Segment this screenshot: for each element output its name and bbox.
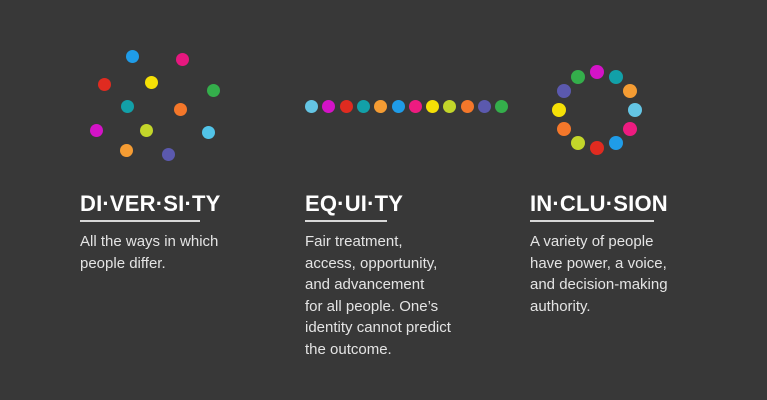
scattered-dot-cluster-graphic bbox=[80, 40, 270, 185]
cluster-dot-0 bbox=[126, 50, 139, 63]
cluster-dot-7 bbox=[90, 124, 103, 137]
row-dot-2 bbox=[340, 100, 353, 113]
ring-dot-7 bbox=[571, 136, 585, 150]
row-dot-11 bbox=[495, 100, 508, 113]
row-dot-9 bbox=[461, 100, 474, 113]
heading-wrap-diversity: DI·VER·SI·TY bbox=[80, 192, 221, 222]
row-dot-4 bbox=[374, 100, 387, 113]
ring-dot-1 bbox=[609, 70, 623, 84]
row-dot-10 bbox=[478, 100, 491, 113]
body-text-inclusion: A variety of people have power, a voice,… bbox=[530, 231, 705, 317]
ring-dot-11 bbox=[571, 70, 585, 84]
row-dot-3 bbox=[357, 100, 370, 113]
ring-dot-6 bbox=[590, 141, 604, 155]
column-inclusion: IN·CLU·SION A variety of people have pow… bbox=[530, 0, 725, 400]
ring-dot-9 bbox=[552, 103, 566, 117]
ring-dot-8 bbox=[557, 122, 571, 136]
ring-dot-4 bbox=[623, 122, 637, 136]
heading-wrap-equity: EQ·UI·TY bbox=[305, 192, 403, 222]
cluster-dot-4 bbox=[207, 84, 220, 97]
ring-dot-10 bbox=[557, 84, 571, 98]
page-title-equity: EQ·UI·TY bbox=[305, 192, 403, 216]
row-dot-0 bbox=[305, 100, 318, 113]
heading-wrap-inclusion: IN·CLU·SION bbox=[530, 192, 668, 222]
row-dot-7 bbox=[426, 100, 439, 113]
cluster-dot-10 bbox=[120, 144, 133, 157]
column-equity: EQ·UI·TY Fair treatment, access, opportu… bbox=[305, 0, 500, 400]
page-title-diversity: DI·VER·SI·TY bbox=[80, 192, 221, 216]
row-dot-1 bbox=[322, 100, 335, 113]
ring-dot-0 bbox=[590, 65, 604, 79]
heading-rule-diversity bbox=[80, 220, 200, 222]
body-text-equity: Fair treatment, access, opportunity, and… bbox=[305, 231, 480, 360]
cluster-dot-11 bbox=[162, 148, 175, 161]
row-dot-5 bbox=[392, 100, 405, 113]
cluster-dot-6 bbox=[174, 103, 187, 116]
ring-dot-3 bbox=[628, 103, 642, 117]
ring-dot-2 bbox=[623, 84, 637, 98]
cluster-dot-1 bbox=[176, 53, 189, 66]
heading-rule-inclusion bbox=[530, 220, 654, 222]
ring-dot-5 bbox=[609, 136, 623, 150]
cluster-dot-9 bbox=[202, 126, 215, 139]
row-dot-6 bbox=[409, 100, 422, 113]
circular-dot-ring-graphic bbox=[530, 40, 725, 185]
cluster-dot-3 bbox=[145, 76, 158, 89]
body-text-diversity: All the ways in which people differ. bbox=[80, 231, 255, 274]
dei-infographic: DI·VER·SI·TY All the ways in which peopl… bbox=[0, 0, 767, 400]
horizontal-dot-row-graphic bbox=[305, 40, 500, 185]
row-dot-8 bbox=[443, 100, 456, 113]
column-diversity: DI·VER·SI·TY All the ways in which peopl… bbox=[80, 0, 270, 400]
heading-rule-equity bbox=[305, 220, 387, 222]
cluster-dot-5 bbox=[121, 100, 134, 113]
page-title-inclusion: IN·CLU·SION bbox=[530, 192, 668, 216]
cluster-dot-2 bbox=[98, 78, 111, 91]
cluster-dot-8 bbox=[140, 124, 153, 137]
